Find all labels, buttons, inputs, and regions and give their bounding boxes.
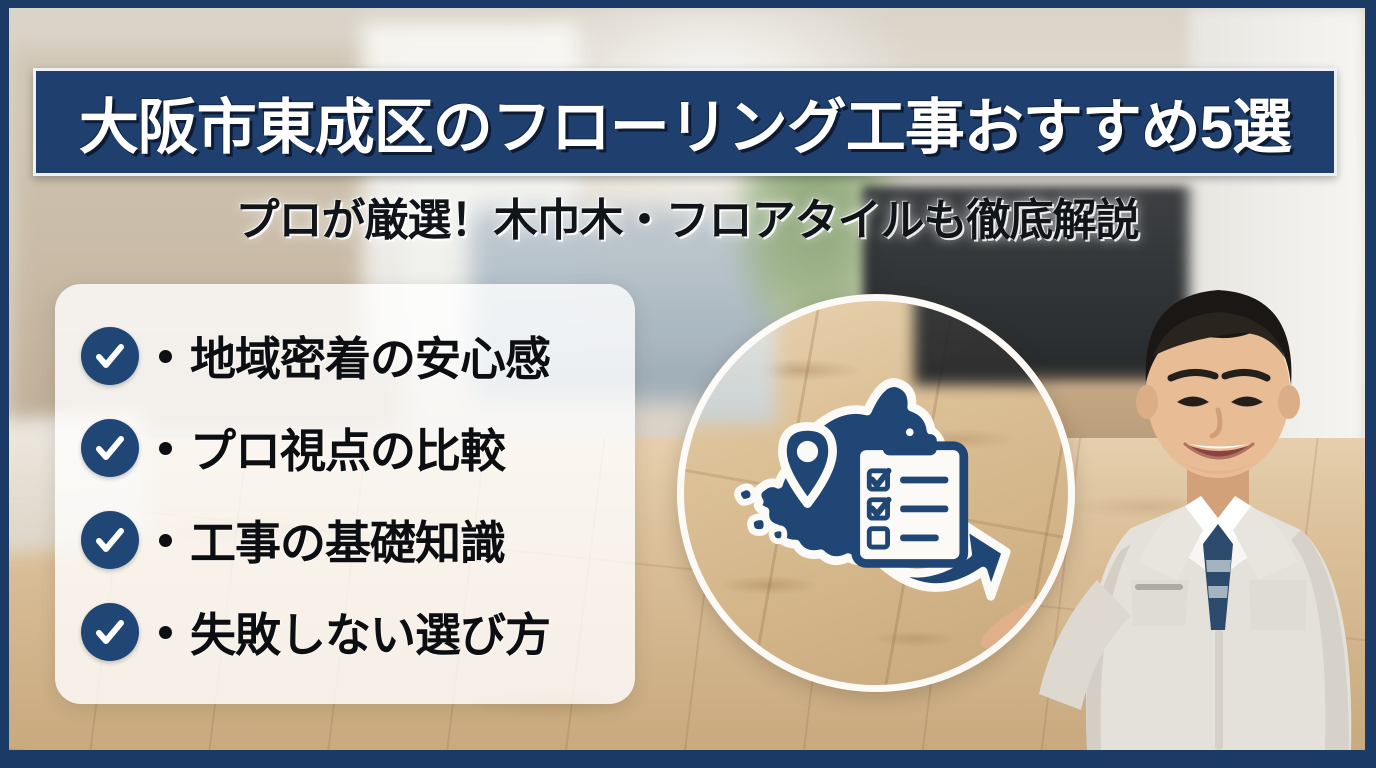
list-item: 地域密着の安心感	[81, 323, 613, 389]
checklist-item-label: 工事の基礎知識	[190, 507, 505, 573]
bullet-dot-icon	[159, 534, 172, 547]
check-circle-icon	[81, 603, 139, 661]
list-item: プロ視点の比較	[81, 415, 613, 481]
clipboard-checklist-growth-arrow-icon	[856, 424, 1007, 597]
title-banner: 大阪市東成区のフローリング工事おすすめ5選	[33, 68, 1337, 176]
frame-edge-bottom	[0, 750, 1376, 768]
check-circle-icon	[81, 327, 139, 385]
hero-inner-frame: 大阪市東成区のフローリング工事おすすめ5選 プロが厳選！木巾木・フロアタイルも徹…	[9, 8, 1365, 750]
checklist-item-label: 失敗しない選び方	[190, 599, 550, 665]
medallion-icon-group	[684, 301, 1068, 685]
bullet-dot-icon	[159, 442, 172, 455]
checklist-item-label: 地域密着の安心感	[190, 323, 550, 389]
page-subtitle: プロが厳選！木巾木・フロアタイルも徹底解説	[9, 184, 1365, 248]
frame-edge-right	[1365, 0, 1376, 768]
list-item: 工事の基礎知識	[81, 507, 613, 573]
page-title: 大阪市東成区のフローリング工事おすすめ5選	[79, 79, 1291, 166]
check-circle-icon	[81, 511, 139, 569]
checklist-item-label: プロ視点の比較	[190, 415, 505, 481]
feature-checklist-panel: 地域密着の安心感 プロ視点の比較 工事の基礎知識	[55, 284, 635, 704]
hero-banner: 大阪市東成区のフローリング工事おすすめ5選 プロが厳選！木巾木・フロアタイルも徹…	[0, 0, 1376, 768]
frame-edge-left	[0, 0, 9, 768]
list-item: 失敗しない選び方	[81, 599, 613, 665]
circular-photo-medallion	[677, 294, 1075, 692]
bullet-dot-icon	[159, 350, 172, 363]
frame-edge-top	[0, 0, 1376, 8]
bullet-dot-icon	[159, 626, 172, 639]
check-circle-icon	[81, 419, 139, 477]
